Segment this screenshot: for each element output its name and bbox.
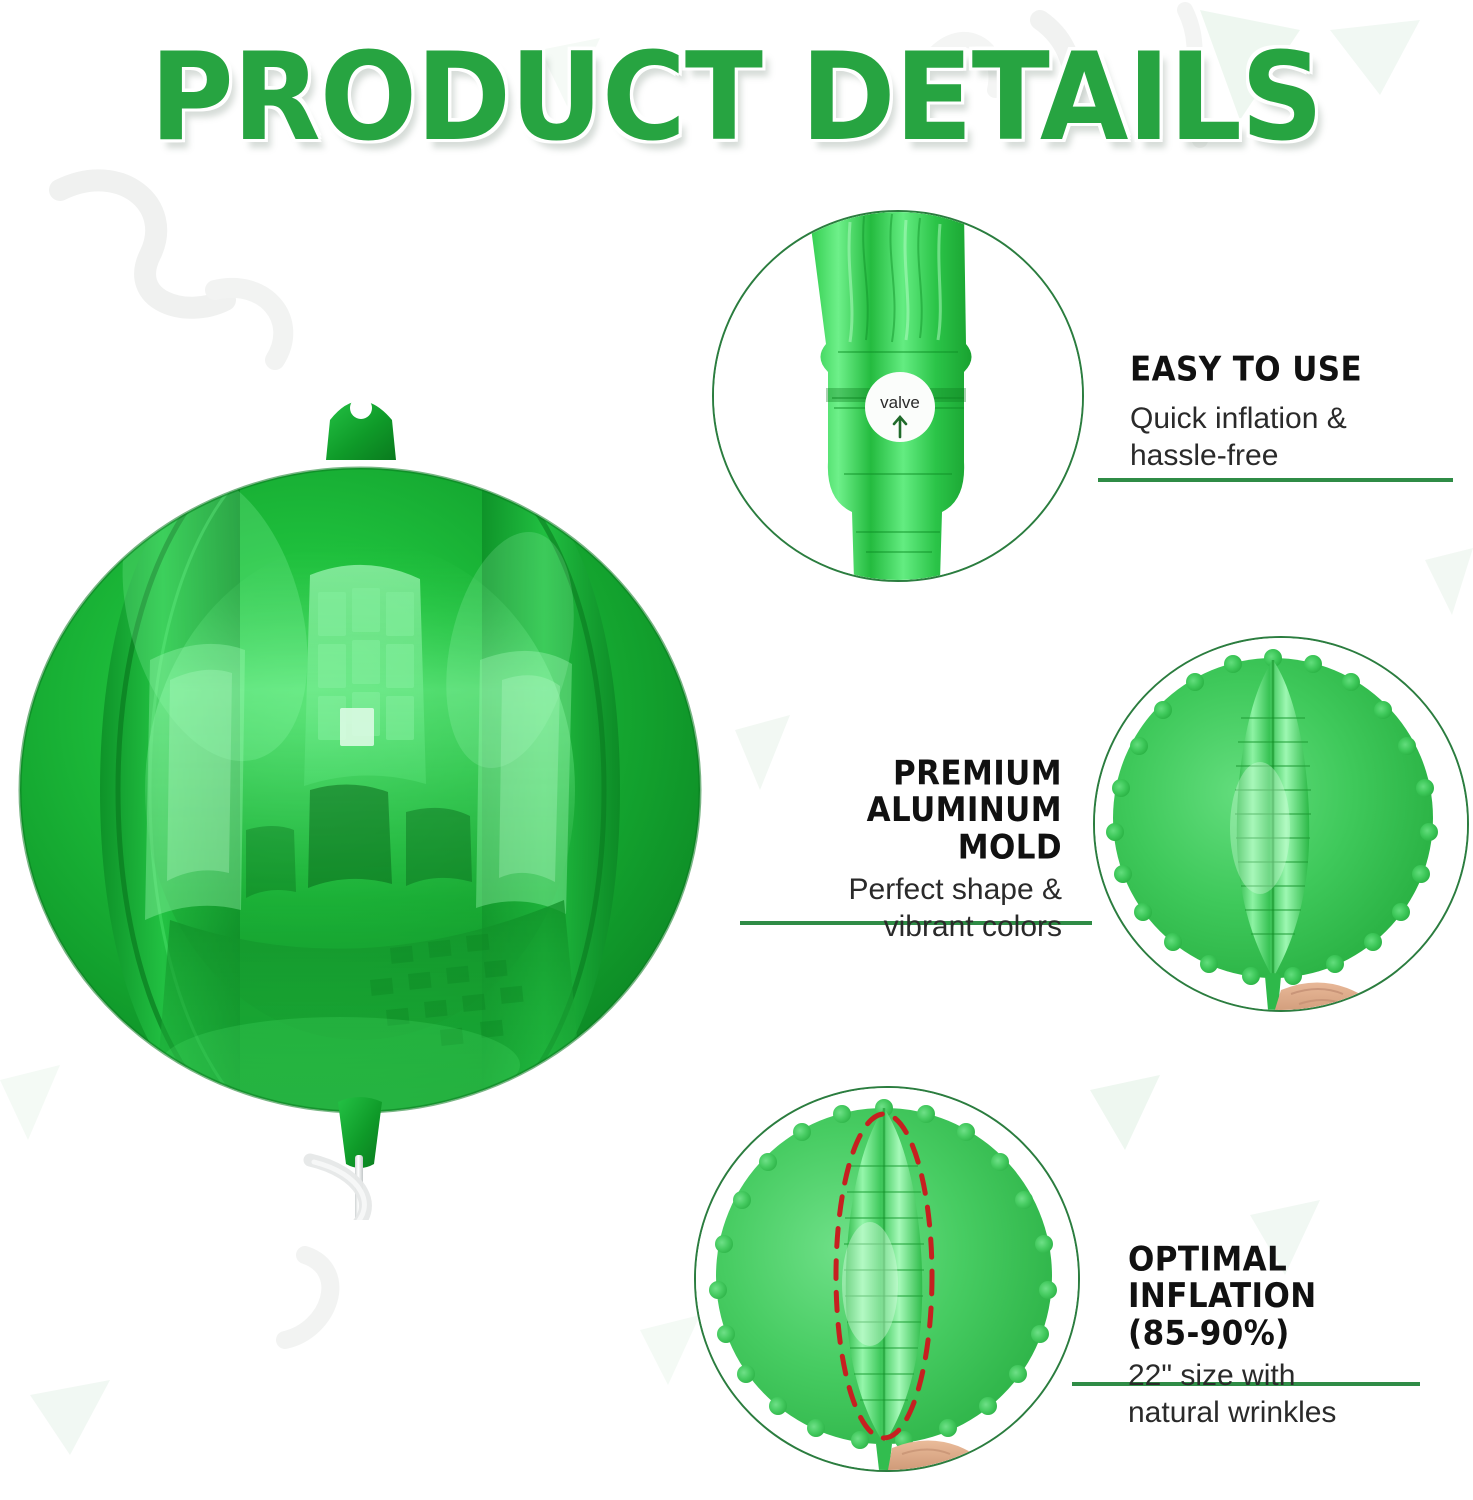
- callout-optimal-inflation: OPTIMAL INFLATION (85-90%) 22" size with…: [1128, 1242, 1463, 1432]
- callout-heading-premium-aluminum-mold: PREMIUM ALUMINUM MOLD: [752, 756, 1062, 866]
- page-title: PRODUCT DETAILS: [150, 38, 1322, 159]
- callout-body-premium-aluminum-mold: Perfect shape & vibrant colors: [752, 872, 1062, 945]
- connector-line-easy-to-use: [1098, 478, 1453, 482]
- callout-body-line2: vibrant colors: [884, 910, 1062, 943]
- callout-easy-to-use: EASY TO USE Quick inflation & hassle-fre…: [1130, 352, 1460, 475]
- callout-heading-line1: PREMIUM: [893, 754, 1062, 794]
- callout-body-easy-to-use: Quick inflation & hassle-free: [1130, 401, 1460, 474]
- callout-heading-line2: (85-90%): [1128, 1313, 1290, 1353]
- callout-body-line1: Perfect shape &: [849, 873, 1062, 906]
- infographic-canvas: PRODUCT DETAILS: [0, 0, 1473, 1500]
- callout-heading-line1: OPTIMAL INFLATION: [1128, 1240, 1317, 1316]
- hero-product-image: [10, 360, 710, 1220]
- callout-body-line1: Quick inflation &: [1130, 402, 1347, 435]
- page-title-wrap: PRODUCT DETAILS: [0, 38, 1473, 146]
- callout-body-line2: hassle-free: [1130, 439, 1278, 472]
- curling-ribbon: [310, 1160, 395, 1220]
- callout-heading-optimal-inflation: OPTIMAL INFLATION (85-90%): [1128, 1242, 1463, 1352]
- detail-circle-easy-to-use: valve: [712, 210, 1084, 582]
- balloon-hang-tab: [326, 397, 396, 460]
- detail-circle-optimal-inflation: [694, 1086, 1080, 1472]
- callout-premium-aluminum-mold: PREMIUM ALUMINUM MOLD Perfect shape & vi…: [752, 756, 1062, 946]
- callout-body-optimal-inflation: 22" size with natural wrinkles: [1128, 1358, 1463, 1431]
- valve-sticker: valve: [865, 372, 935, 442]
- svg-text:valve: valve: [880, 393, 920, 412]
- callout-heading-line2: ALUMINUM MOLD: [867, 791, 1062, 867]
- callout-body-line2: natural wrinkles: [1128, 1396, 1336, 1429]
- callout-heading-easy-to-use: EASY TO USE: [1130, 352, 1460, 389]
- callout-body-line1: 22" size with: [1128, 1359, 1295, 1392]
- detail-circle-premium-aluminum-mold: [1093, 636, 1469, 1012]
